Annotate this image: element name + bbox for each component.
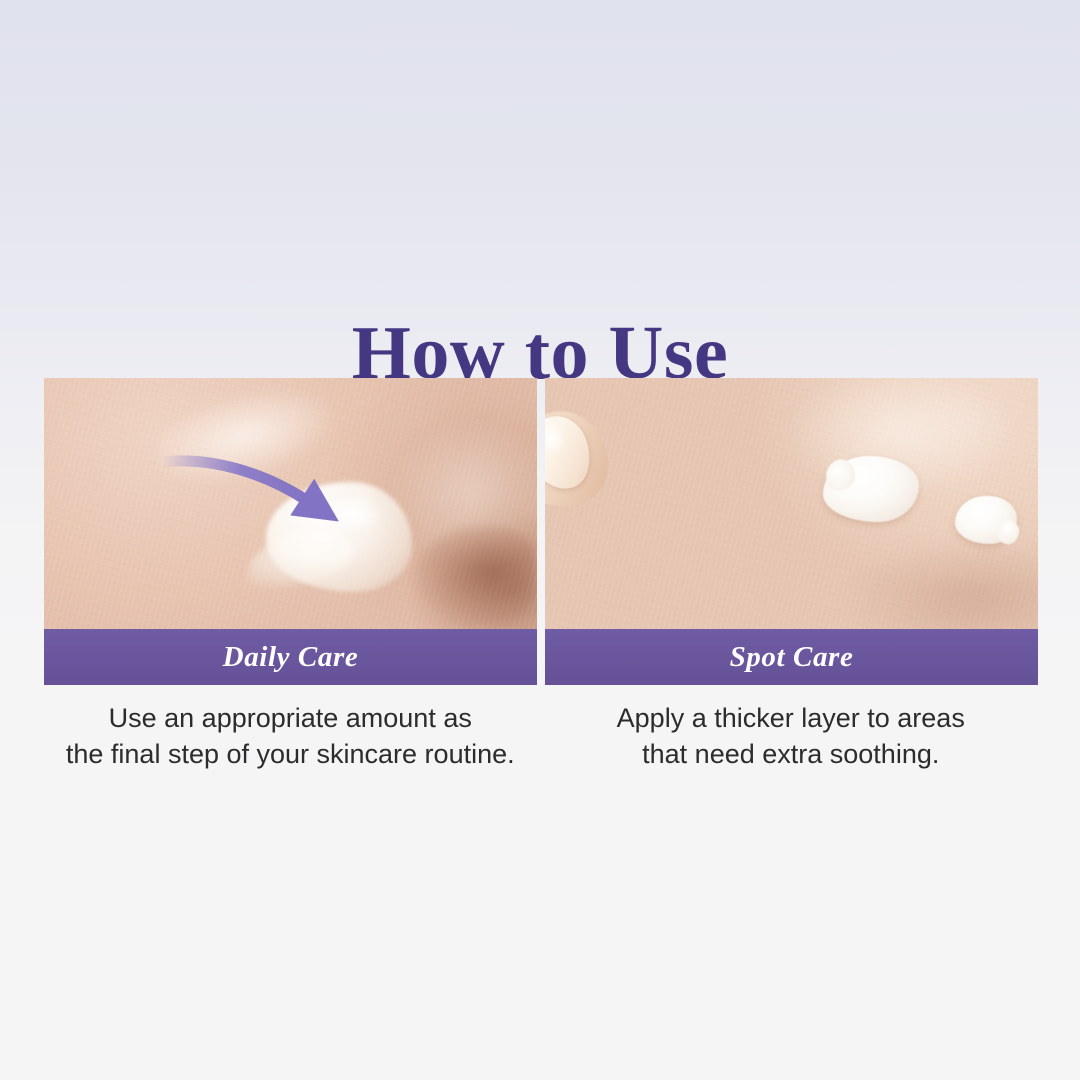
caption-line: the final step of your skincare routine. <box>44 736 537 772</box>
caption-line: Use an appropriate amount as <box>44 700 537 736</box>
curved-arrow-icon <box>44 378 537 629</box>
care-cards-row: Daily Care <box>44 378 1037 685</box>
daily-care-photo <box>44 378 537 629</box>
spot-care-label: Spot Care <box>730 641 854 674</box>
fingertip <box>545 412 607 508</box>
spot-care-label-bar: Spot Care <box>545 629 1038 685</box>
daily-care-caption: Use an appropriate amount as the final s… <box>44 700 537 772</box>
caption-line: that need extra soothing. <box>545 736 1038 772</box>
daily-care-label-bar: Daily Care <box>44 629 537 685</box>
spot-care-photo <box>545 378 1038 629</box>
card-daily-care: Daily Care <box>44 378 537 685</box>
captions-row: Use an appropriate amount as the final s… <box>44 700 1037 772</box>
how-to-use-infographic: How to Use <box>0 0 1080 1080</box>
cream-dollop-small <box>955 496 1017 544</box>
cream-dollop-large <box>823 456 919 522</box>
caption-line: Apply a thicker layer to areas <box>545 700 1038 736</box>
card-spot-care: Spot Care <box>545 378 1038 685</box>
skin-shadow <box>845 539 1038 629</box>
daily-care-label: Daily Care <box>223 641 359 674</box>
spot-care-caption: Apply a thicker layer to areas that need… <box>545 700 1038 772</box>
